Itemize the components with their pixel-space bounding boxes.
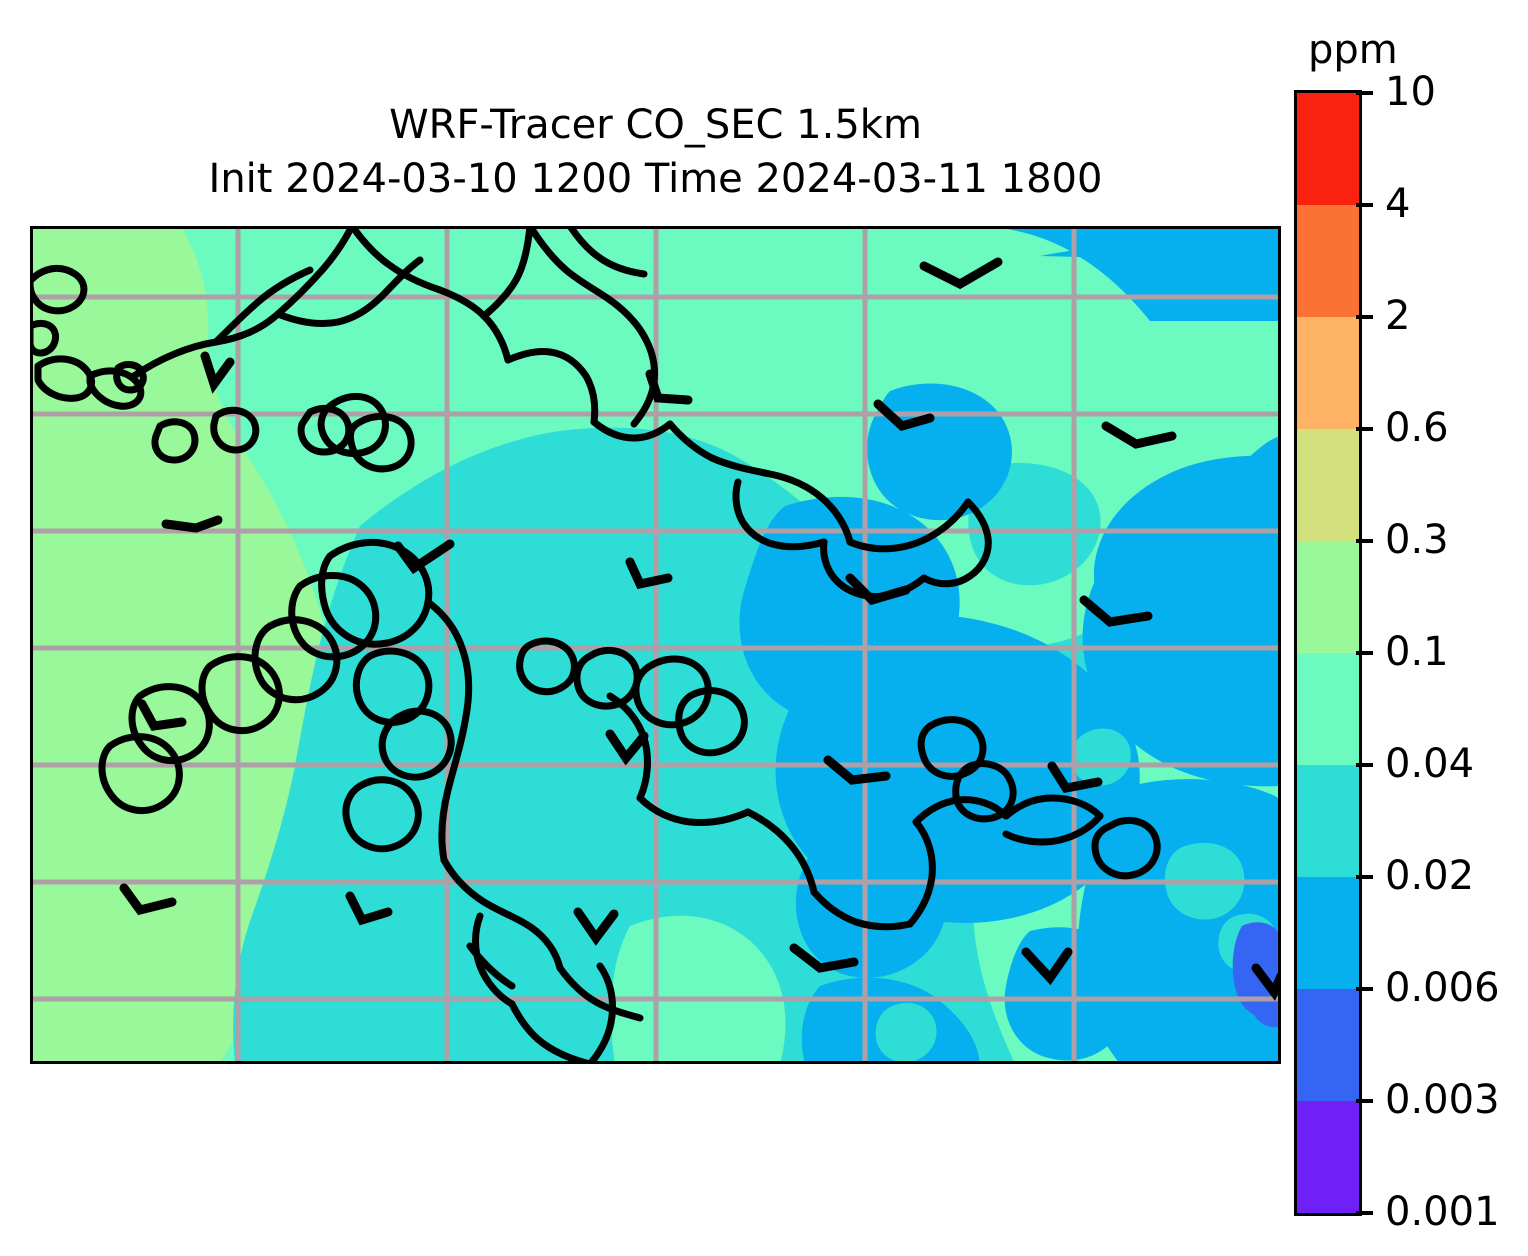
colorbar-tick-label: 0.04: [1385, 744, 1474, 784]
colorbar-band: [1297, 429, 1359, 541]
colorbar-band: [1297, 765, 1359, 877]
colorbar-band: [1297, 653, 1359, 765]
colorbar-band: [1297, 1101, 1359, 1213]
colorbar-tick-label: 10: [1385, 72, 1436, 112]
colorbar-tick-label: 0.6: [1385, 408, 1449, 448]
colorbar-band: [1297, 317, 1359, 429]
contour-map-svg: [30, 226, 1281, 1064]
colorbar-tick-label: 2: [1385, 296, 1410, 336]
page-title: WRF-Tracer CO_SEC 1.5km Init 2024-03-10 …: [30, 98, 1281, 206]
colorbar-tick-label: 0.001: [1385, 1192, 1500, 1232]
colorbar-band: [1297, 877, 1359, 989]
colorbar-band: [1297, 989, 1359, 1101]
colorbar-tick-label: 0.003: [1385, 1080, 1500, 1120]
colorbar-tick-label: 0.3: [1385, 520, 1449, 560]
colorbar[interactable]: [1294, 90, 1362, 1216]
figure-canvas: WRF-Tracer CO_SEC 1.5km Init 2024-03-10 …: [0, 0, 1528, 1256]
title-line-2: Init 2024-03-10 1200 Time 2024-03-11 180…: [30, 152, 1281, 206]
title-line-1: WRF-Tracer CO_SEC 1.5km: [30, 98, 1281, 152]
colorbar-tick-label: 4: [1385, 184, 1410, 224]
map-plot-area[interactable]: [30, 226, 1281, 1064]
colorbar-band: [1297, 541, 1359, 653]
colorbar-unit-label: ppm: [1308, 30, 1398, 70]
colorbar-tick-label: 0.02: [1385, 856, 1474, 896]
colorbar-band: [1297, 205, 1359, 317]
colorbar-tick-label: 0.006: [1385, 968, 1500, 1008]
colorbar-tick-label: 0.1: [1385, 632, 1449, 672]
colorbar-band: [1297, 93, 1359, 205]
